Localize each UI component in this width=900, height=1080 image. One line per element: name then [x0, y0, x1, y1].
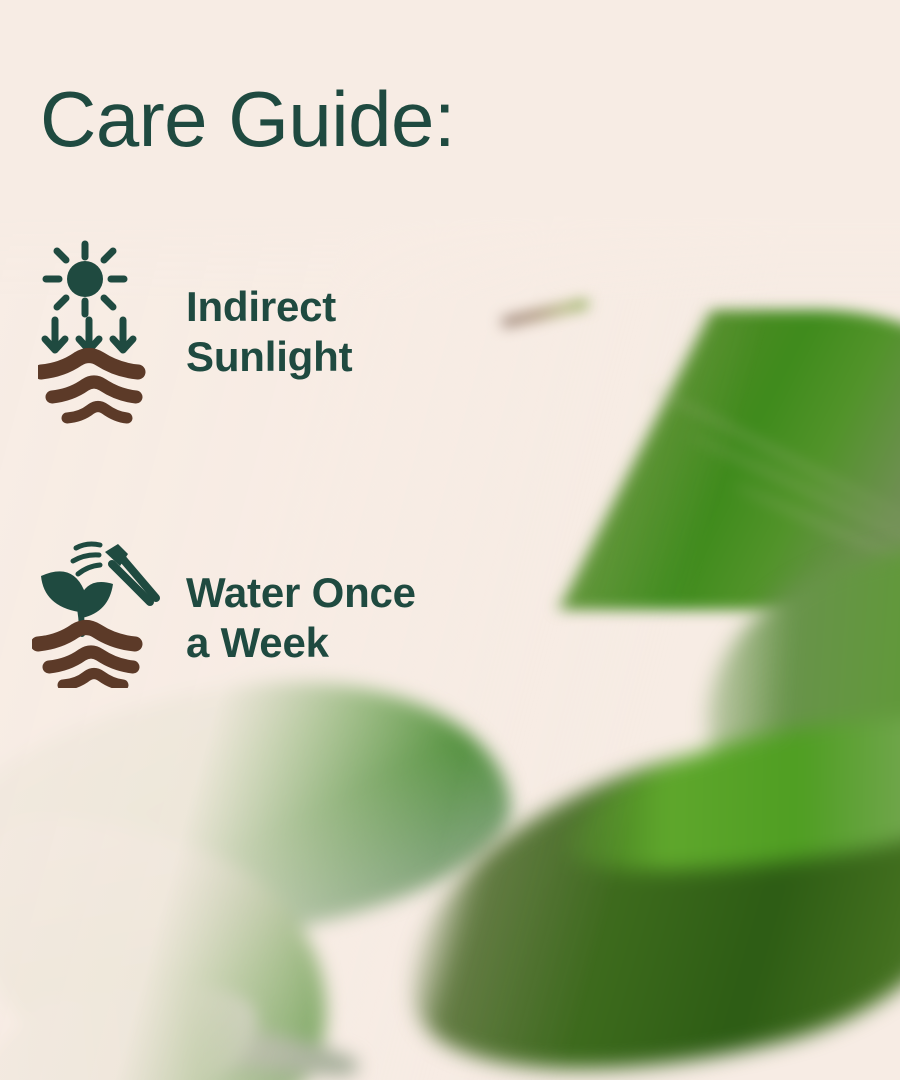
leaf-blade — [372, 694, 900, 1080]
leaf-stem — [500, 298, 590, 328]
leaf-vein — [732, 482, 900, 580]
page-title: Care Guide: — [40, 80, 455, 158]
bottom-left-leaf — [0, 690, 550, 1080]
care-guide-card: Care Guide: — [0, 0, 900, 1080]
leaf-blade — [0, 654, 523, 975]
leaf-blade — [534, 310, 900, 610]
sun-over-soil-icon — [38, 236, 148, 431]
care-item-sunlight-label: Indirect Sunlight — [186, 282, 352, 381]
leaf-blade — [0, 967, 268, 1080]
leaf-vein — [687, 432, 900, 551]
watering-sprayer-plant-icon — [32, 528, 142, 693]
leaf-blade-back — [672, 497, 900, 863]
leaf-vein — [647, 384, 900, 525]
care-item-sunlight: Indirect Sunlight — [38, 236, 352, 431]
soil-waves-icon — [41, 356, 138, 419]
bottom-leaf-sliver — [0, 990, 260, 1080]
leaf-tip — [0, 783, 371, 1080]
leaf-highlight — [553, 690, 900, 897]
leaf-stalk — [29, 992, 361, 1080]
upper-right-leaf — [498, 292, 900, 622]
care-item-water: Water Once a Week — [32, 528, 416, 693]
care-item-water-label: Water Once a Week — [186, 568, 416, 667]
bottom-right-leaf — [400, 720, 900, 1080]
sunlight-arrows-icon — [45, 320, 133, 350]
spray-lines-icon — [73, 544, 100, 574]
soil-waves-icon — [38, 628, 135, 686]
plant-leaf-right — [78, 582, 113, 618]
sun-disc-icon — [67, 261, 103, 297]
spray-nozzle-icon — [105, 544, 156, 602]
